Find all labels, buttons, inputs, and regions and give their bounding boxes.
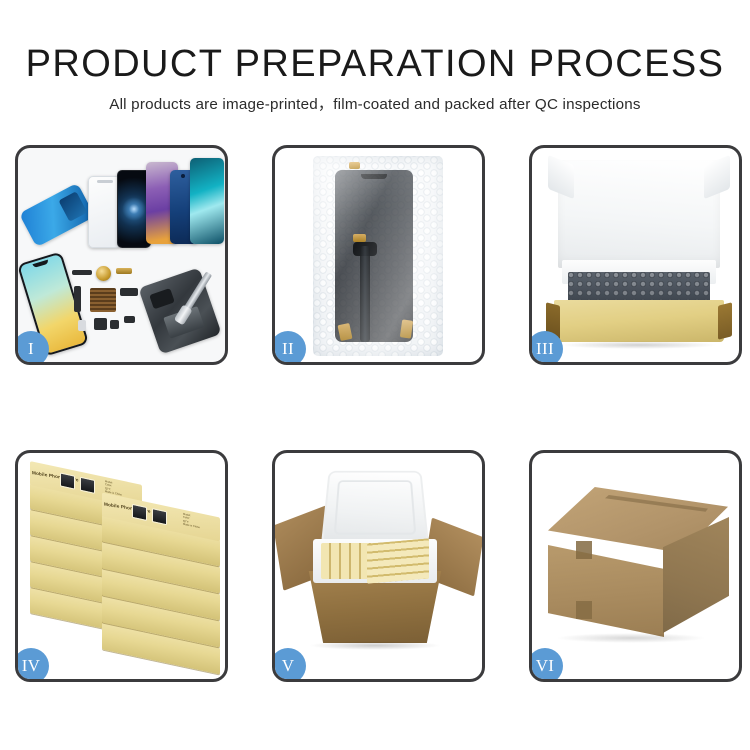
screen-flex-cable <box>360 246 370 342</box>
box-stack-photo: Mobile Phone Spare Parts Model: Color: Q… <box>18 453 225 679</box>
step-badge-3: III <box>529 331 563 365</box>
process-steps-grid: I II <box>15 145 735 685</box>
step-badge-6: VI <box>529 648 563 682</box>
step-panel-4: Mobile Phone Spare Parts Model: Color: Q… <box>15 450 228 682</box>
foam-cooler-lid <box>321 471 430 547</box>
step-panel-2: II <box>272 145 485 365</box>
page-title: PRODUCT PREPARATION PROCESS <box>0 42 750 86</box>
box-window-left <box>132 504 147 521</box>
carton-shadow <box>309 641 441 650</box>
box-spec-lines: Model: Color: QTY: Made in China <box>183 513 217 534</box>
tape-tab-mid <box>353 234 366 242</box>
poster: PRODUCT PREPARATION PROCESS All products… <box>0 0 750 750</box>
gold-connector-part <box>116 268 132 274</box>
box-window-left <box>60 472 75 489</box>
step-panel-6: VI <box>529 450 742 682</box>
taptic-coil-part <box>96 266 111 281</box>
bracket-part <box>124 316 135 323</box>
button-part <box>110 320 119 329</box>
carton-tape-lower <box>576 601 592 619</box>
box-window-right <box>152 508 167 525</box>
sealed-carton-photo <box>532 453 739 679</box>
inner-box-photo <box>532 148 739 362</box>
step-badge-1: I <box>15 331 49 365</box>
inner-boxes-row-2 <box>367 538 429 583</box>
step-badge-2: II <box>272 331 306 365</box>
step-badge-5: V <box>272 648 306 682</box>
kraft-box-body <box>554 300 724 342</box>
speaker-part <box>94 318 107 330</box>
box-window-right <box>80 477 95 494</box>
step-panel-1: I <box>15 145 228 365</box>
carton-front-face <box>548 545 664 637</box>
flex-cable-part <box>72 270 92 275</box>
step-panel-5: V <box>272 450 485 682</box>
box-lid-open <box>558 160 720 268</box>
step-panel-3: III <box>529 145 742 365</box>
phone-teal <box>190 158 224 244</box>
sim-tray-part <box>78 320 86 331</box>
step-badge-4: IV <box>15 648 49 682</box>
page-subtitle: All products are image-printed，film-coat… <box>0 95 750 115</box>
adhesive-sheet <box>19 183 95 248</box>
wrapped-screen <box>335 170 413 342</box>
camera-module-part <box>120 288 138 296</box>
bubble-wrap-photo <box>275 148 482 362</box>
foam-carton-photo <box>275 453 482 679</box>
carton-shadow <box>556 633 706 643</box>
chip-grid-part <box>90 288 116 312</box>
product-components-photo <box>18 148 225 362</box>
box-stack: Mobile Phone Spare Parts Model: Color: Q… <box>26 471 224 661</box>
bubble-wrap-bag <box>313 156 443 356</box>
tape-tab-top <box>349 162 360 169</box>
carton-tape-upper <box>576 541 592 559</box>
poster-header: PRODUCT PREPARATION PROCESS All products… <box>0 0 750 115</box>
ribbon-cable-part <box>74 286 81 312</box>
box-shadow <box>560 341 718 349</box>
